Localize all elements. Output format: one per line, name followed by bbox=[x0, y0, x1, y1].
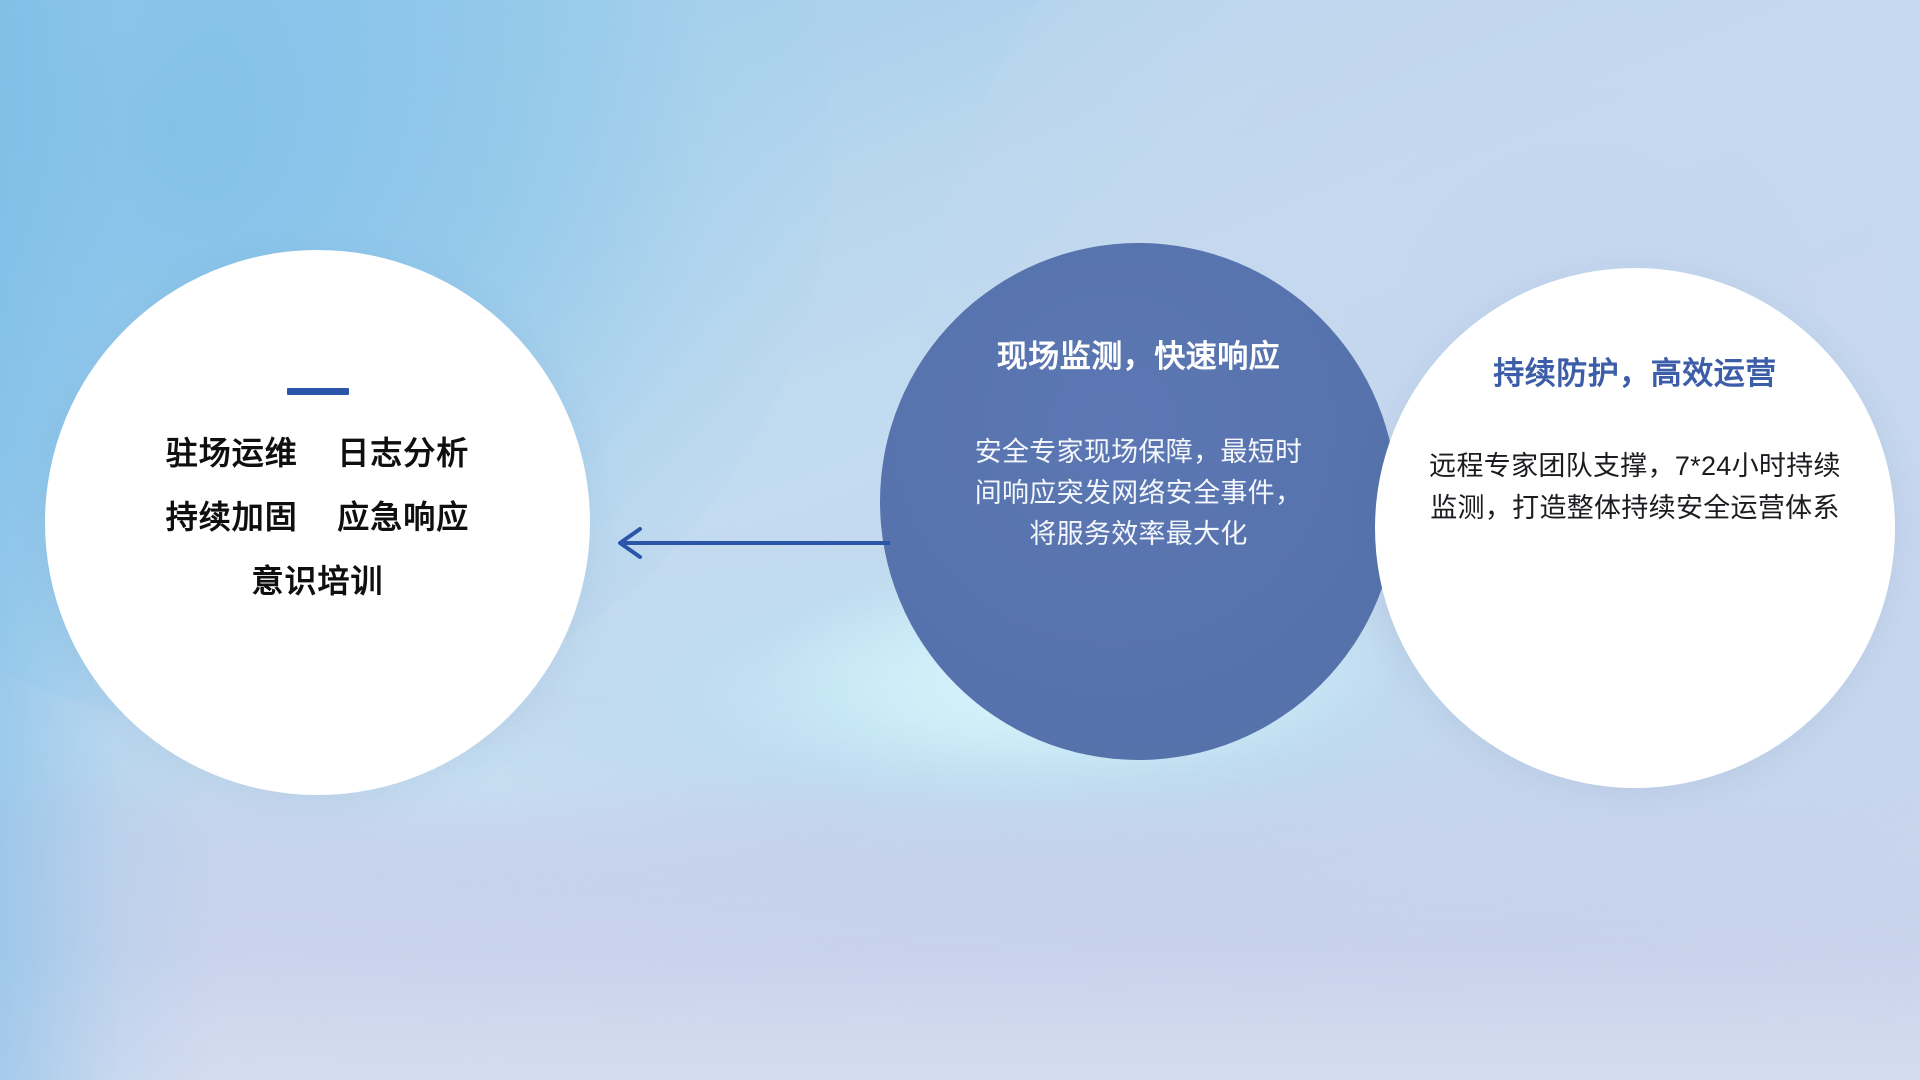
list-item: 驻场运维 日志分析 bbox=[166, 437, 470, 469]
right-operations-circle[interactable]: 持续防护，高效运营 远程专家团队支撑，7*24小时持续监测，打造整体持续安全运营… bbox=[1375, 268, 1895, 788]
arrow-left-icon bbox=[600, 525, 890, 566]
left-capability-list: 驻场运维 日志分析 持续加固 应急响应 意识培训 bbox=[166, 437, 470, 597]
middle-circle-title: 现场监测，快速响应 bbox=[997, 331, 1281, 376]
middle-onsite-circle[interactable]: 现场监测，快速响应 安全专家现场保障，最短时间响应突发网络安全事件，将服务效率最… bbox=[880, 243, 1397, 760]
diagram-stage: 驻场运维 日志分析 持续加固 应急响应 意识培训 现场监测，快速响应 安全专家现… bbox=[0, 0, 1920, 1080]
middle-circle-body: 安全专家现场保障，最短时间响应突发网络安全事件，将服务效率最大化 bbox=[974, 432, 1304, 555]
divider-dash-icon bbox=[287, 388, 349, 395]
right-circle-body: 远程专家团队支撑，7*24小时持续监测，打造整体持续安全运营体系 bbox=[1425, 445, 1845, 529]
list-item: 持续加固 应急响应 bbox=[166, 501, 470, 533]
left-capability-circle[interactable]: 驻场运维 日志分析 持续加固 应急响应 意识培训 bbox=[45, 250, 590, 795]
right-circle-title: 持续防护，高效运营 bbox=[1493, 348, 1777, 393]
list-item: 意识培训 bbox=[166, 565, 470, 597]
